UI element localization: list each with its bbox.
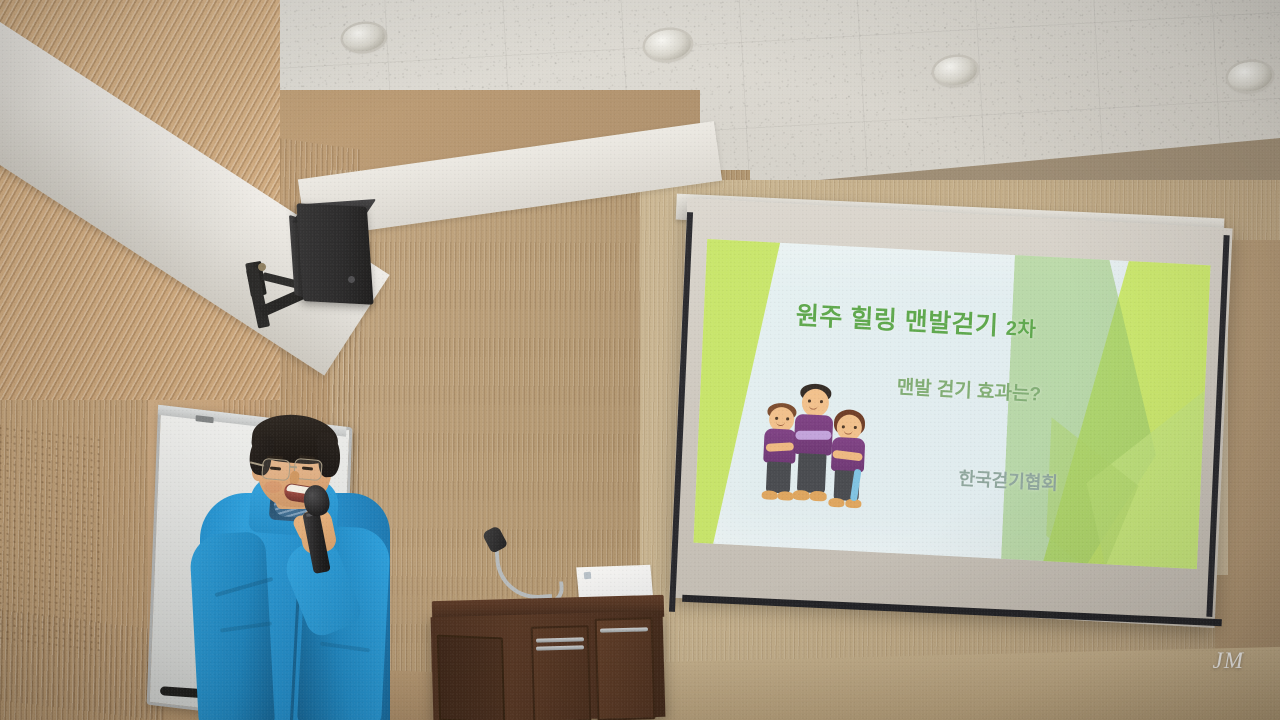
podium-side-panel — [437, 635, 506, 720]
presenter — [190, 415, 420, 720]
figure-shoe — [828, 498, 844, 508]
figure-eye — [842, 425, 845, 428]
figure-eye — [786, 417, 789, 420]
figure-shoe — [809, 491, 826, 502]
slide-organization: 한국걷기협회 — [958, 464, 1058, 495]
watermark: JM — [1213, 648, 1244, 674]
figure-eye — [820, 400, 823, 403]
figure-arms — [795, 431, 831, 440]
figure-legs — [797, 453, 827, 493]
wall-speaker-icon — [296, 203, 373, 304]
podium-paper-mark — [584, 572, 592, 580]
slide-title-main: 원주 힐링 맨발걷기 — [795, 302, 999, 341]
figure-shoe — [761, 490, 777, 500]
presentation-photo: 원주 힐링 맨발걷기 2차 맨발 걷기 효과는? 한국걷기협회 — [0, 0, 1280, 720]
illustration-figure-right — [825, 406, 872, 510]
figure-eye — [808, 399, 811, 402]
speaker-mount-knob — [258, 263, 266, 271]
slide-title-number: 2차 — [1005, 318, 1036, 342]
projected-slide: 원주 힐링 맨발걷기 2차 맨발 걷기 효과는? 한국걷기협회 — [693, 239, 1210, 569]
figure-eye — [775, 417, 778, 420]
figure-eye — [854, 426, 857, 429]
figure-shoe — [792, 490, 809, 501]
presenter-cheek — [264, 481, 282, 493]
podium-door — [595, 617, 656, 720]
slide-illustration-three-people — [755, 372, 881, 513]
speaker-driver-icon — [348, 276, 355, 283]
